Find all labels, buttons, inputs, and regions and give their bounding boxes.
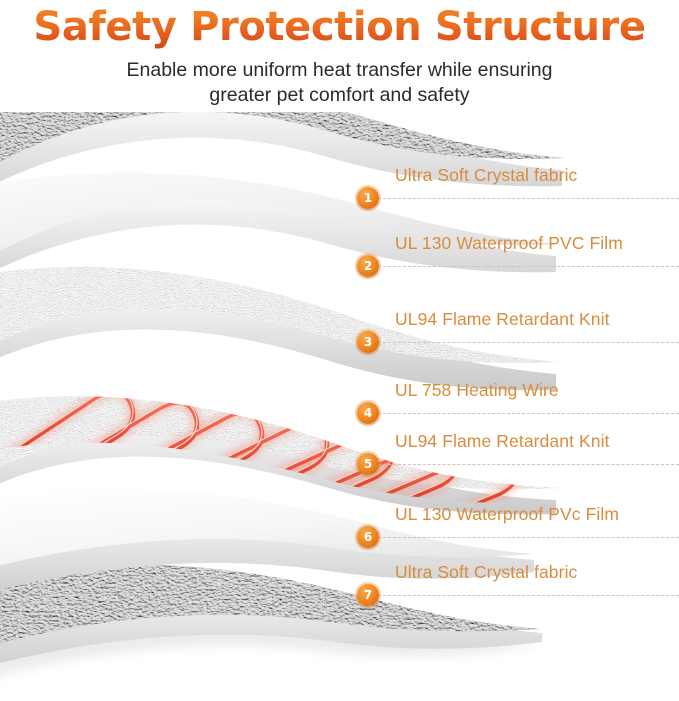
layer-number-badge-1: 1 [357,187,379,209]
leader-line-7 [378,595,679,596]
leader-line-6 [378,537,679,538]
layer-label-1: Ultra Soft Crystal fabric [395,165,577,186]
layer-number-badge-4: 4 [357,402,379,424]
layer-label-3: UL94 Flame Retardant Knit [395,309,610,330]
leader-line-5 [378,464,679,465]
layer-number-badge-3: 3 [357,331,379,353]
layer-label-2: UL 130 Waterproof PVC Film [395,233,623,254]
leader-line-2 [378,266,679,267]
layer-label-5: UL94 Flame Retardant Knit [395,431,610,452]
layer-number-badge-5: 5 [357,453,379,475]
layer-number-badge-7: 7 [357,584,379,606]
leader-line-3 [378,342,679,343]
layer-number-badge-2: 2 [357,255,379,277]
leader-line-1 [378,198,679,199]
leader-line-4 [378,413,679,414]
layer-label-7: Ultra Soft Crystal fabric [395,562,577,583]
layer-label-6: UL 130 Waterproof PVc Film [395,504,619,525]
callout-list: 1Ultra Soft Crystal fabric2UL 130 Waterp… [0,0,679,701]
layer-label-4: UL 758 Heating Wire [395,380,559,401]
layer-number-badge-6: 6 [357,526,379,548]
